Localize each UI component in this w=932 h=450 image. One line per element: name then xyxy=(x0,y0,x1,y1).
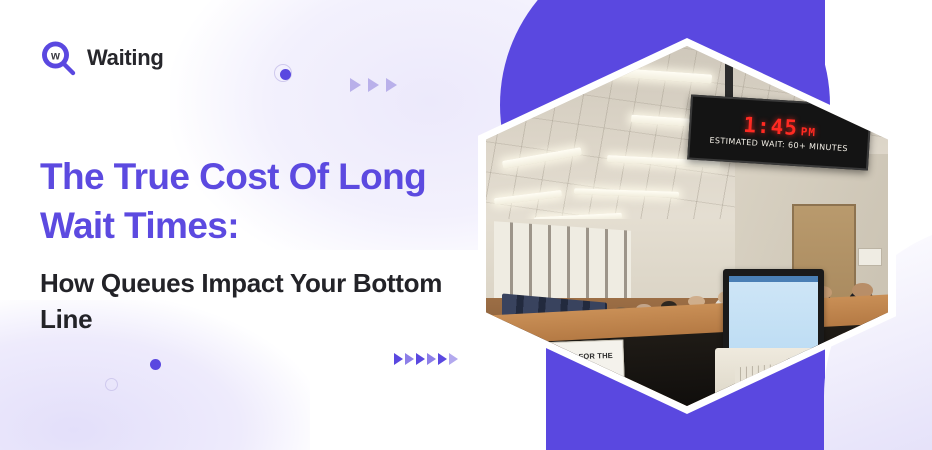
blog-hero-banner: w Waiting The True Cost Of Long Wait Tim… xyxy=(0,0,932,450)
ring-bottom xyxy=(105,378,118,391)
brand-logo[interactable]: w Waiting xyxy=(38,38,164,78)
triangle-right-icon xyxy=(394,353,403,365)
led-clock-time: 1:45 xyxy=(743,112,799,139)
triangle-right-outline-icon xyxy=(449,353,458,365)
magnifier-w-icon: w xyxy=(38,38,78,78)
page-subtitle: How Queues Impact Your Bottom Line xyxy=(40,265,470,339)
monitor-titlebar xyxy=(729,276,817,282)
page-title: The True Cost Of Long Wait Times: xyxy=(40,153,470,251)
triangle-right-outline-icon xyxy=(427,353,436,365)
triangle-right-icon xyxy=(438,353,447,365)
triangle-right-icon xyxy=(416,353,425,365)
triangle-right-icon xyxy=(386,78,397,92)
white-notch-shape xyxy=(888,0,932,26)
arrow-cluster-bottom xyxy=(394,353,458,365)
triangle-right-outline-icon xyxy=(405,353,414,365)
led-clock-meridiem: PM xyxy=(800,125,816,139)
led-clock: 1:45PM xyxy=(743,114,817,139)
triangle-right-icon xyxy=(368,78,379,92)
dot-bottom xyxy=(150,359,161,370)
triangle-right-icon xyxy=(350,78,361,92)
monitor-screen xyxy=(729,276,817,358)
dot-top xyxy=(280,69,291,80)
brand-name: Waiting xyxy=(87,45,164,71)
svg-text:w: w xyxy=(50,50,60,62)
arrow-cluster-top xyxy=(350,78,397,92)
